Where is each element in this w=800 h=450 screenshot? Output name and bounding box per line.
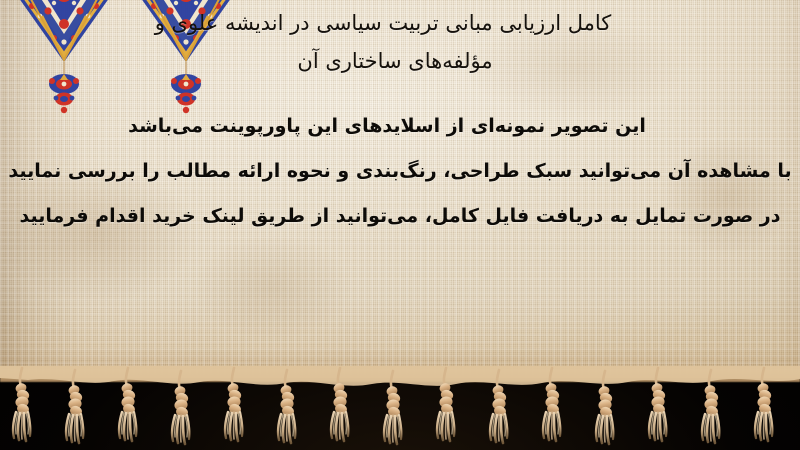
slide-body-text: این تصویر نمونه‌ای از اسلایدهای این پاور… (0, 104, 800, 239)
carpet-fringe (0, 366, 800, 450)
slide-canvas: کامل ارزیابی مبانی تربیت سیاسی در اندیشه… (0, 0, 800, 450)
slide-body-line-2: با مشاهده آن می‌توانید سبک طراحی، رنگ‌بن… (0, 149, 800, 194)
slide-body-line-1: این تصویر نمونه‌ای از اسلایدهای این پاور… (0, 104, 800, 149)
slide-title-line-1: کامل ارزیابی مبانی تربیت سیاسی در اندیشه… (0, 4, 800, 42)
slide-body-line-3: در صورت تمایل به دریافت فایل کامل، می‌تو… (0, 194, 800, 239)
slide-title-line-2: مؤلفه‌های ساختاری آن (0, 42, 800, 80)
slide-title: کامل ارزیابی مبانی تربیت سیاسی در اندیشه… (0, 4, 800, 80)
